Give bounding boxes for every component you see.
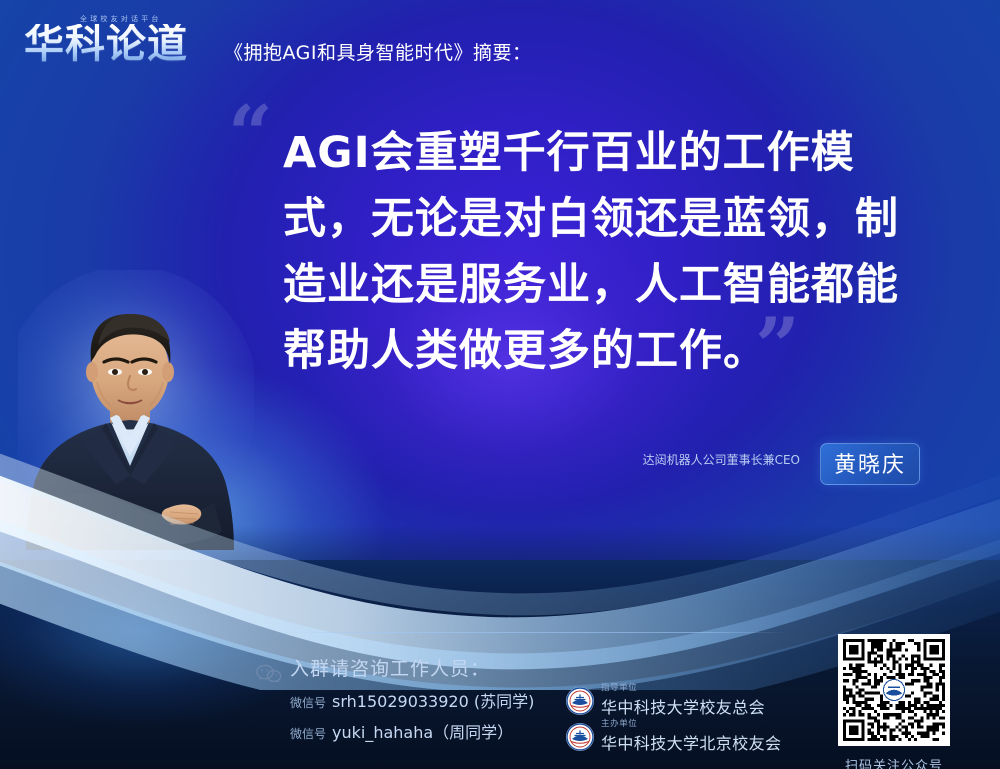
contact-value[interactable]: yuki_hahaha（周同学） <box>332 723 513 742</box>
quote-open-mark: “ <box>228 96 271 174</box>
organization-name: 华中科技大学北京校友会 <box>601 730 781 754</box>
attribution: 达闼机器人公司董事长兼CEO 黄晓庆 <box>560 443 920 477</box>
poster-root: 全球校友对话平台 华科论道 《拥抱AGI和具身智能时代》摘要： “ AGI会重塑… <box>0 0 1000 769</box>
contact-value[interactable]: srh15029033920 (苏同学) <box>332 692 534 711</box>
qr-caption: 扫码关注公众号 <box>838 755 950 769</box>
contact-label: 微信号 <box>290 727 326 741</box>
quote-line: AGI会重塑千行百业的工作模 <box>283 120 943 186</box>
contact-row: 微信号yuki_hahaha（周同学） <box>290 719 513 743</box>
footer-divider <box>285 632 785 633</box>
poster-footer: 入群请咨询工作人员： 微信号srh15029033920 (苏同学) 微信号yu… <box>0 620 1000 769</box>
organization-name: 华中科技大学校友总会 <box>601 694 765 718</box>
contact-heading: 入群请咨询工作人员： <box>290 654 490 681</box>
contact-row: 微信号srh15029033920 (苏同学) <box>290 688 534 712</box>
contact-label: 微信号 <box>290 696 326 710</box>
speaker-role: 达闼机器人公司董事长兼CEO <box>643 451 800 468</box>
qr-block: 扫码关注公众号 <box>838 634 958 769</box>
organization-text: 指导单位 华中科技大学校友总会 <box>601 681 765 718</box>
speaker-name: 黄晓庆 <box>834 453 906 478</box>
quote-line: 式，无论是对白领还是蓝领，制 <box>283 186 943 252</box>
qr-code[interactable] <box>838 634 950 746</box>
quote-line: 造业还是服务业，人工智能都能 <box>283 252 943 318</box>
brand-logo: 全球校友对话平台 华科论道 <box>24 12 214 72</box>
organization-kind: 指导单位 <box>601 681 765 693</box>
speaker-name-badge: 黄晓庆 <box>820 443 920 485</box>
poster-header: 全球校友对话平台 华科论道 《拥抱AGI和具身智能时代》摘要： <box>0 0 1000 92</box>
brand-logo-text: 华科论道 <box>24 24 188 64</box>
organization-text: 主办单位 华中科技大学北京校友会 <box>601 717 781 754</box>
quote-line: 帮助人类做更多的工作。 <box>283 318 943 384</box>
wechat-icon <box>256 664 282 684</box>
hust-seal-icon <box>565 722 595 752</box>
quote-close-mark: ” <box>755 308 798 386</box>
organization-kind: 主办单位 <box>601 717 781 729</box>
hust-seal-icon <box>565 686 595 716</box>
page-title: 《拥抱AGI和具身智能时代》摘要： <box>224 38 532 65</box>
quote-text: AGI会重塑千行百业的工作模 式，无论是对白领还是蓝领，制 造业还是服务业，人工… <box>283 120 943 384</box>
